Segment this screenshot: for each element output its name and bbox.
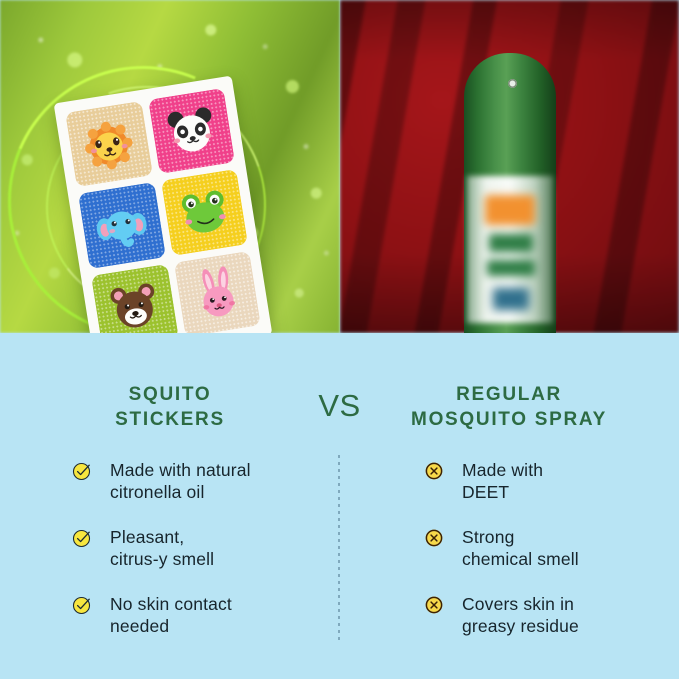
sticker-elephant [78, 182, 165, 268]
aerosol-spray-can [464, 53, 556, 333]
check-circle-icon [72, 595, 92, 615]
label-band-green [489, 234, 533, 252]
sticker-rabbit [173, 251, 260, 333]
cross-circle-icon [424, 461, 444, 481]
check-circle-icon [72, 528, 92, 548]
sticker-lion [65, 101, 152, 187]
check-circle-icon [72, 461, 92, 481]
comparison-panel: SQUITO STICKERS REGULAR MOSQUITO SPRAY V… [0, 333, 679, 679]
list-item: No skin contact needed [72, 593, 352, 637]
list-item-text: Pleasant, citrus-y smell [110, 526, 214, 570]
cross-circle-icon [424, 595, 444, 615]
list-item-text: Strong chemical smell [462, 526, 579, 570]
list-item: Pleasant, citrus-y smell [72, 526, 352, 570]
list-item: Strong chemical smell [424, 526, 679, 570]
list-item-text: No skin contact needed [110, 593, 232, 637]
left-feature-list: Made with natural citronella oil Pleasan… [72, 459, 352, 637]
label-band-blue [493, 288, 529, 310]
photo-band [0, 0, 679, 333]
list-item-text: Covers skin in greasy residue [462, 593, 579, 637]
list-item: Made with DEET [424, 459, 679, 503]
sticker-bear [91, 264, 178, 333]
sticker-sheet-photo [0, 0, 340, 333]
right-feature-list: Made with DEET Strong chemical smell [424, 459, 679, 637]
cross-circle-icon [424, 528, 444, 548]
label-band-green [487, 260, 535, 276]
can-nozzle-icon [508, 79, 517, 88]
list-item-text: Made with DEET [462, 459, 543, 503]
vs-label: VS [0, 388, 679, 424]
list-item: Made with natural citronella oil [72, 459, 352, 503]
sticker-frog [161, 169, 248, 255]
comparison-infographic: SQUITO STICKERS REGULAR MOSQUITO SPRAY V… [0, 0, 679, 679]
label-band-orange [485, 195, 535, 225]
spray-can-photo [340, 0, 679, 333]
list-item: Covers skin in greasy residue [424, 593, 679, 637]
list-item-text: Made with natural citronella oil [110, 459, 251, 503]
can-label [467, 176, 553, 323]
sticker-panda [148, 88, 235, 174]
